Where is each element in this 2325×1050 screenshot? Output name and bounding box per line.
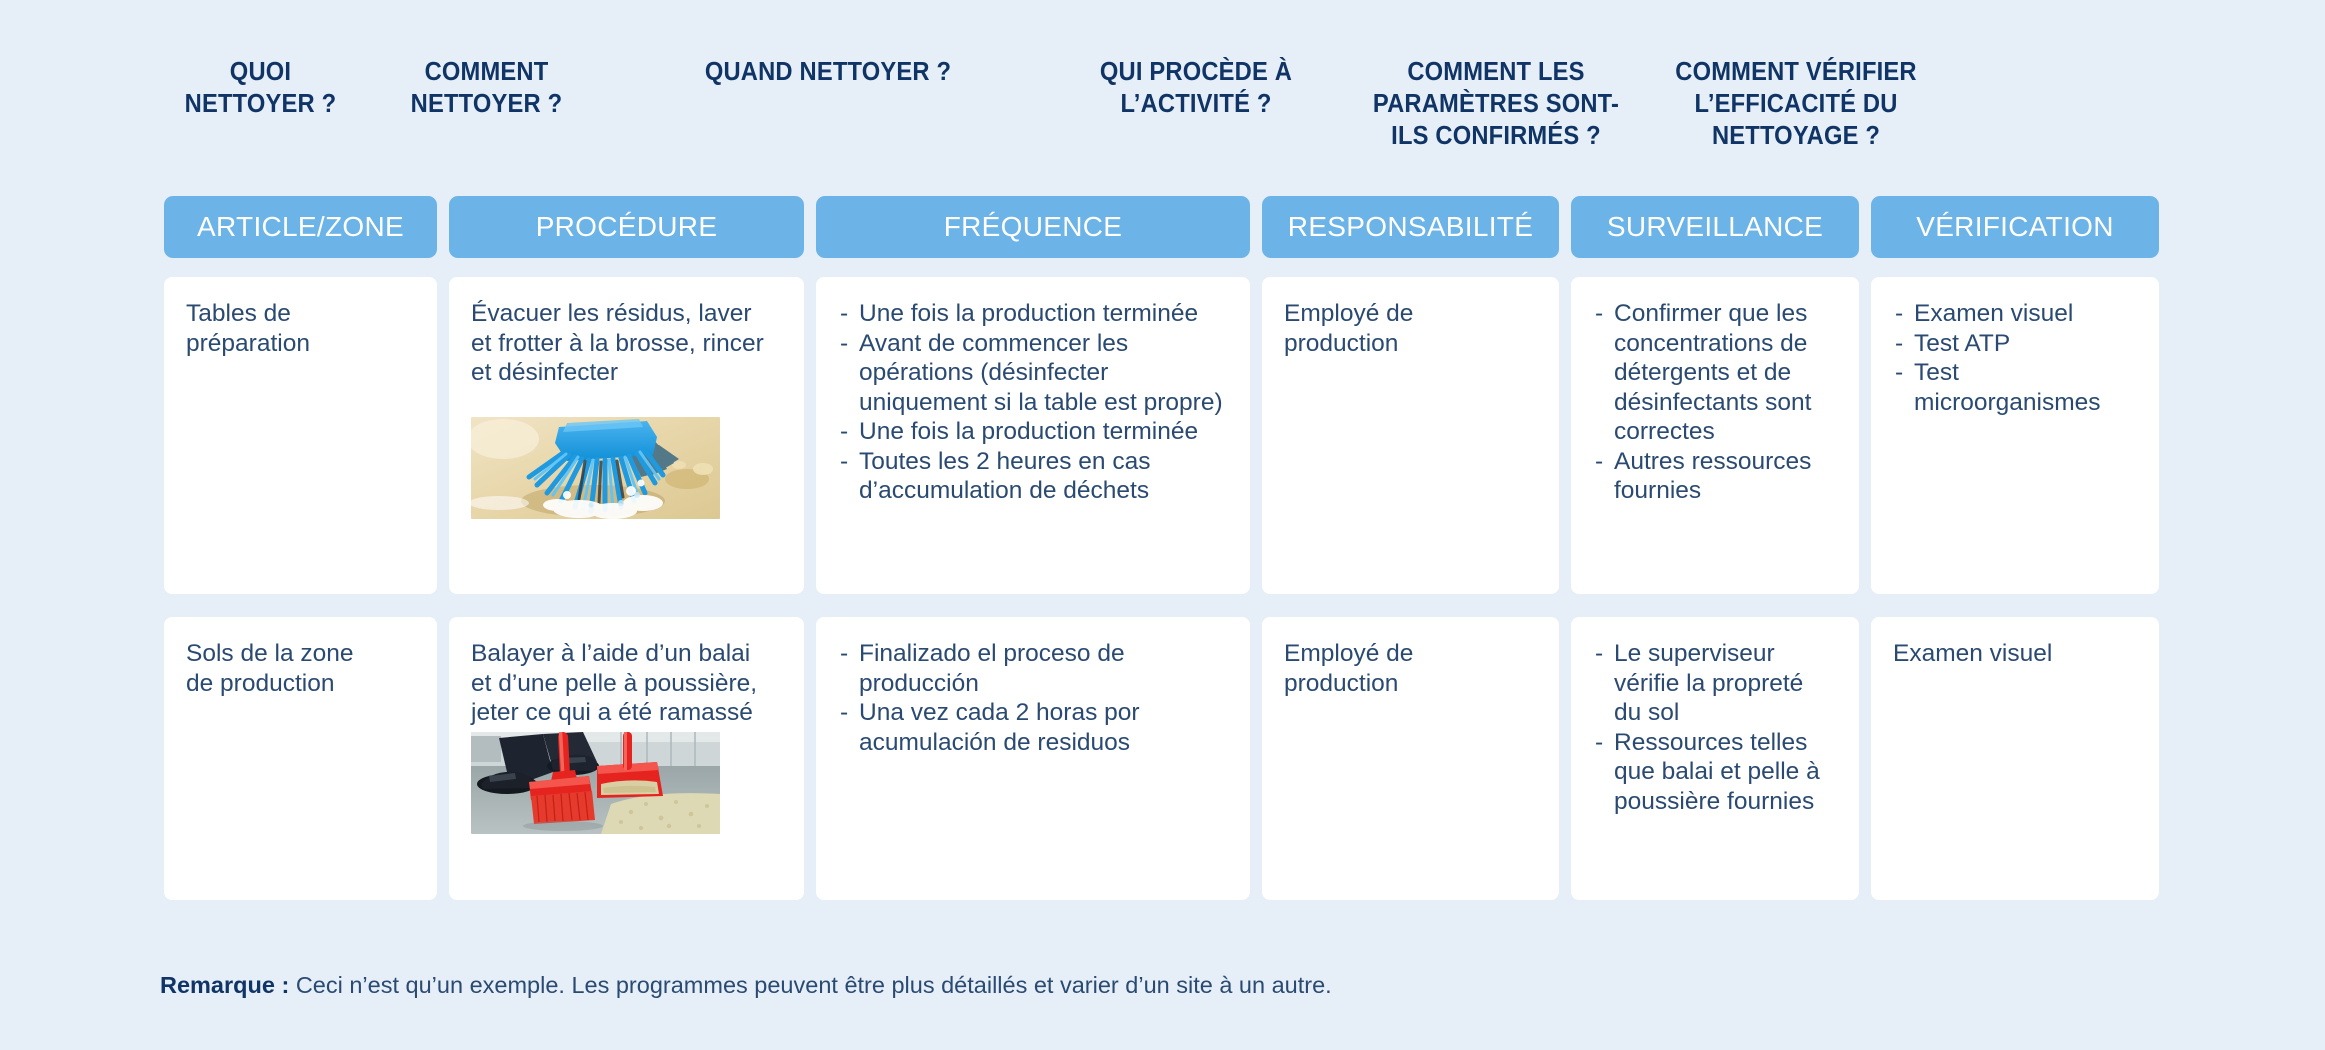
responsabilite-text: Employé de production (1284, 299, 1537, 358)
cell-surveillance: Le superviseur vérifie la propreté du so… (1571, 617, 1859, 900)
cell-article-zone: Sols de la zone de production (164, 617, 437, 900)
question-header-qui: QUI PROCÈDE À L’ACTIVITÉ ? (1057, 56, 1336, 120)
column-header-frequence: FRÉQUENCE (816, 196, 1250, 258)
table-row: Sols de la zone de production Balayer à … (158, 617, 2165, 900)
verification-list: Examen visuel Test ATP Test microorganis… (1893, 299, 2137, 417)
table-row: Tables de préparation Évacuer les résidu… (158, 277, 2165, 594)
footnote-text: Ceci n’est qu’un exemple. Les programmes… (289, 972, 1331, 998)
column-header-article-zone: ARTICLE/ZONE (164, 196, 437, 258)
list-item: Le superviseur vérifie la propreté du so… (1593, 639, 1837, 728)
question-header-efficacite: COMMENT VÉRIFIER L’EFFICACITÉ DU NETTOYA… (1657, 56, 1936, 152)
responsabilite-text: Employé de production (1284, 639, 1537, 698)
column-header-row: ARTICLE/ZONE PROCÉDURE FRÉQUENCE RESPONS… (158, 196, 2165, 258)
footnote: Remarque : Ceci n’est qu’un exemple. Les… (160, 972, 1332, 999)
cell-responsabilite: Employé de production (1262, 277, 1559, 594)
surveillance-list: Confirmer que les concentrations de déte… (1593, 299, 1837, 506)
blue-scrub-brush-photo (471, 417, 720, 519)
question-header-comment: COMMENT NETTOYER ? (372, 56, 602, 120)
list-item: Une fois la production terminée (838, 299, 1228, 329)
question-header-quoi: QUOI NETTOYER ? (165, 56, 356, 120)
list-item: Test microorganismes (1893, 358, 2137, 417)
column-header-verification: VÉRIFICATION (1871, 196, 2159, 258)
cell-article-zone: Tables de préparation (164, 277, 437, 594)
list-item: Examen visuel (1893, 299, 2137, 329)
cell-surveillance: Confirmer que les concentrations de déte… (1571, 277, 1859, 594)
question-header-quand: QUAND NETTOYER ? (625, 56, 1030, 88)
question-header-parametres: COMMENT LES PARAMÈTRES SONT- ILS CONFIRM… (1357, 56, 1636, 152)
list-item: Test ATP (1893, 329, 2137, 359)
footnote-label: Remarque : (160, 972, 289, 998)
frequence-list: Finalizado el proceso de producción Una … (838, 639, 1228, 757)
red-broom-and-dustpan-photo (471, 732, 720, 834)
procedure-text: Évacuer les résidus, laver et frotter à … (471, 299, 782, 388)
list-item: Ressources telles que balai et pelle à p… (1593, 728, 1837, 817)
cell-procedure: Évacuer les résidus, laver et frotter à … (449, 277, 804, 594)
column-header-surveillance: SURVEILLANCE (1571, 196, 1859, 258)
list-item: Autres ressources fournies (1593, 447, 1837, 506)
cell-responsabilite: Employé de production (1262, 617, 1559, 900)
cell-verification: Examen visuel Test ATP Test microorganis… (1871, 277, 2159, 594)
column-header-procedure: PROCÉDURE (449, 196, 804, 258)
column-header-responsabilite: RESPONSABILITÉ (1262, 196, 1559, 258)
list-item: Une fois la production terminée (838, 417, 1228, 447)
cell-frequence: Finalizado el proceso de producción Una … (816, 617, 1250, 900)
surveillance-list: Le superviseur vérifie la propreté du so… (1593, 639, 1837, 816)
list-item: Finalizado el proceso de producción (838, 639, 1228, 698)
list-item: Confirmer que les concentrations de déte… (1593, 299, 1837, 447)
list-item: Toutes les 2 heures en cas d’accumulatio… (838, 447, 1228, 506)
cell-verification: Examen visuel (1871, 617, 2159, 900)
frequence-list: Une fois la production terminée Avant de… (838, 299, 1228, 506)
cleaning-schedule-page: QUOI NETTOYER ? COMMENT NETTOYER ? QUAND… (0, 0, 2325, 1050)
cell-frequence: Une fois la production terminée Avant de… (816, 277, 1250, 594)
verification-text: Examen visuel (1893, 639, 2137, 669)
article-zone-text: Sols de la zone de production (186, 639, 415, 698)
cell-procedure: Balayer à l’aide d’un balai et d’une pel… (449, 617, 804, 900)
article-zone-text: Tables de préparation (186, 299, 415, 358)
question-header-row: QUOI NETTOYER ? COMMENT NETTOYER ? QUAND… (158, 56, 2165, 152)
list-item: Una vez cada 2 horas por acumulación de … (838, 698, 1228, 757)
list-item: Avant de commencer les opérations (désin… (838, 329, 1228, 418)
